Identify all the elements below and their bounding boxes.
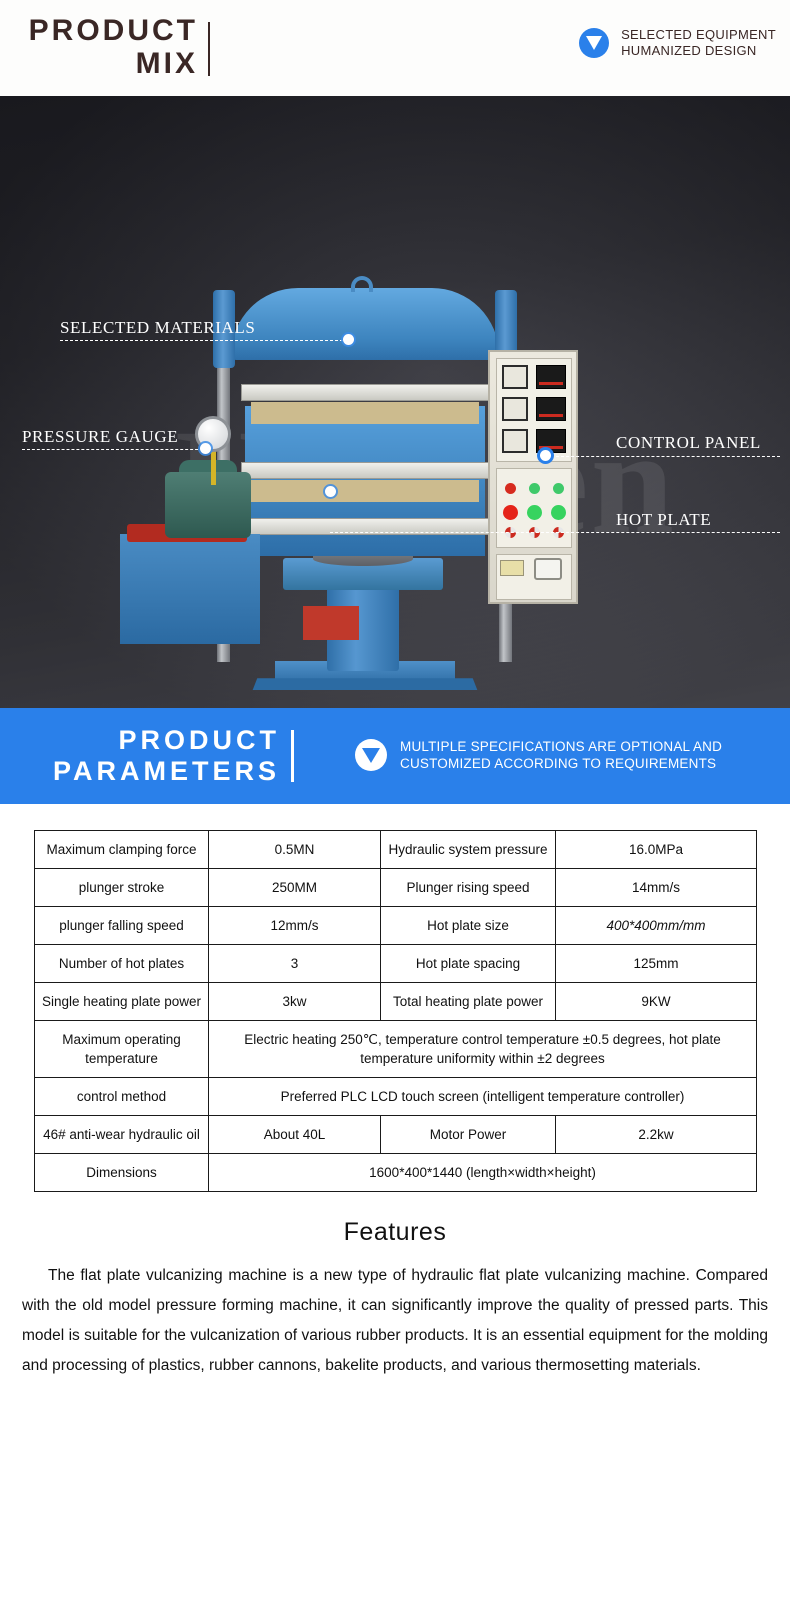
header-title-line1: PRODUCT — [28, 14, 198, 47]
banner-tagline-line1: MULTIPLE SPECIFICATIONS ARE OPTIONAL AND — [400, 738, 722, 755]
table-row: 46# anti-wear hydraulic oil About 40L Mo… — [35, 1116, 757, 1154]
callout-dot-control-panel — [540, 450, 551, 461]
banner-tagline: MULTIPLE SPECIFICATIONS ARE OPTIONAL AND… — [400, 738, 722, 772]
features-body: The flat plate vulcanizing machine is a … — [22, 1261, 768, 1381]
spec-value: 3kw — [209, 983, 381, 1021]
spec-label: control method — [35, 1078, 209, 1116]
spec-label: Maximum operating temperature — [35, 1021, 209, 1078]
spec-value: 9KW — [556, 983, 757, 1021]
spec-label: Hot plate spacing — [381, 945, 556, 983]
banner-tagline-line2: CUSTOMIZED ACCORDING TO REQUIREMENTS — [400, 755, 722, 772]
callout-line-pressure-gauge — [22, 449, 203, 450]
banner-title-line1: PRODUCT — [30, 725, 280, 756]
spec-value: 12mm/s — [209, 907, 381, 945]
callout-label-hot-plate: HOT PLATE — [616, 510, 711, 530]
callout-line-hot-plate — [330, 532, 780, 533]
spec-value: 2.2kw — [556, 1116, 757, 1154]
spec-value: 3 — [209, 945, 381, 983]
spec-label: 46# anti-wear hydraulic oil — [35, 1116, 209, 1154]
spec-label: Plunger rising speed — [381, 869, 556, 907]
spec-value: 0.5MN — [209, 831, 381, 869]
features-section: Features The flat plate vulcanizing mach… — [0, 1192, 790, 1381]
banner-title-line2: PARAMETERS — [30, 756, 280, 787]
spec-value: 250MM — [209, 869, 381, 907]
table-row: Dimensions 1600*400*1440 (length×width×h… — [35, 1154, 757, 1192]
callout-label-pressure-gauge: PRESSURE GAUGE — [22, 427, 178, 447]
spec-label: Total heating plate power — [381, 983, 556, 1021]
spec-label: Maximum clamping force — [35, 831, 209, 869]
callout-label-control-panel: CONTROL PANEL — [616, 433, 761, 453]
spec-value: 125mm — [556, 945, 757, 983]
spec-value: 16.0MPa — [556, 831, 757, 869]
callout-dot-hot-plate — [325, 486, 336, 497]
table-row: plunger stroke 250MM Plunger rising spee… — [35, 869, 757, 907]
spec-label: Hot plate size — [381, 907, 556, 945]
spec-value-merged: Preferred PLC LCD touch screen (intellig… — [209, 1078, 757, 1116]
header-title-line2: MIX — [28, 47, 198, 80]
spec-value: 400*400mm/mm — [556, 907, 757, 945]
header-divider — [208, 22, 210, 76]
product-photo: Houren — [0, 96, 790, 708]
spec-value: About 40L — [209, 1116, 381, 1154]
banner-divider — [291, 730, 294, 782]
spec-value-merged: Electric heating 250℃, temperature contr… — [209, 1021, 757, 1078]
table-row: Maximum operating temperature Electric h… — [35, 1021, 757, 1078]
header-tagline-line1: SELECTED EQUIPMENT — [621, 27, 776, 43]
features-title: Features — [22, 1218, 768, 1247]
callout-label-selected-materials: SELECTED MATERIALS — [60, 318, 255, 338]
callout-line-control-panel — [546, 456, 780, 457]
callout-dot-selected-materials — [343, 334, 354, 345]
header-tagline-line2: HUMANIZED DESIGN — [621, 43, 776, 59]
table-row: control method Preferred PLC LCD touch s… — [35, 1078, 757, 1116]
spec-table-wrapper: Maximum clamping force 0.5MN Hydraulic s… — [0, 804, 790, 1192]
triangle-down-icon — [579, 28, 609, 58]
table-row: Single heating plate power 3kw Total hea… — [35, 983, 757, 1021]
spec-label: Hydraulic system pressure — [381, 831, 556, 869]
control-panel-part — [488, 350, 578, 604]
callout-line-selected-materials — [60, 340, 348, 341]
product-parameters-banner: PRODUCT PARAMETERS MULTIPLE SPECIFICATIO… — [0, 708, 790, 804]
triangle-down-icon — [355, 739, 387, 771]
callout-dot-pressure-gauge — [200, 443, 211, 454]
spec-label: plunger falling speed — [35, 907, 209, 945]
header-tagline: SELECTED EQUIPMENT HUMANIZED DESIGN — [621, 27, 776, 59]
table-row: Maximum clamping force 0.5MN Hydraulic s… — [35, 831, 757, 869]
page-header: PRODUCT MIX SELECTED EQUIPMENT HUMANIZED… — [0, 0, 790, 96]
banner-title: PRODUCT PARAMETERS — [30, 725, 280, 787]
spec-label: plunger stroke — [35, 869, 209, 907]
banner-tagline-group: MULTIPLE SPECIFICATIONS ARE OPTIONAL AND… — [355, 738, 722, 772]
spec-value: 14mm/s — [556, 869, 757, 907]
header-tagline-group: SELECTED EQUIPMENT HUMANIZED DESIGN — [579, 27, 776, 59]
table-row: plunger falling speed 12mm/s Hot plate s… — [35, 907, 757, 945]
table-row: Number of hot plates 3 Hot plate spacing… — [35, 945, 757, 983]
spec-label: Number of hot plates — [35, 945, 209, 983]
spec-value-merged: 1600*400*1440 (length×width×height) — [209, 1154, 757, 1192]
header-title: PRODUCT MIX — [28, 14, 198, 80]
spec-label: Single heating plate power — [35, 983, 209, 1021]
spec-label: Motor Power — [381, 1116, 556, 1154]
spec-label: Dimensions — [35, 1154, 209, 1192]
specifications-table: Maximum clamping force 0.5MN Hydraulic s… — [34, 830, 757, 1192]
